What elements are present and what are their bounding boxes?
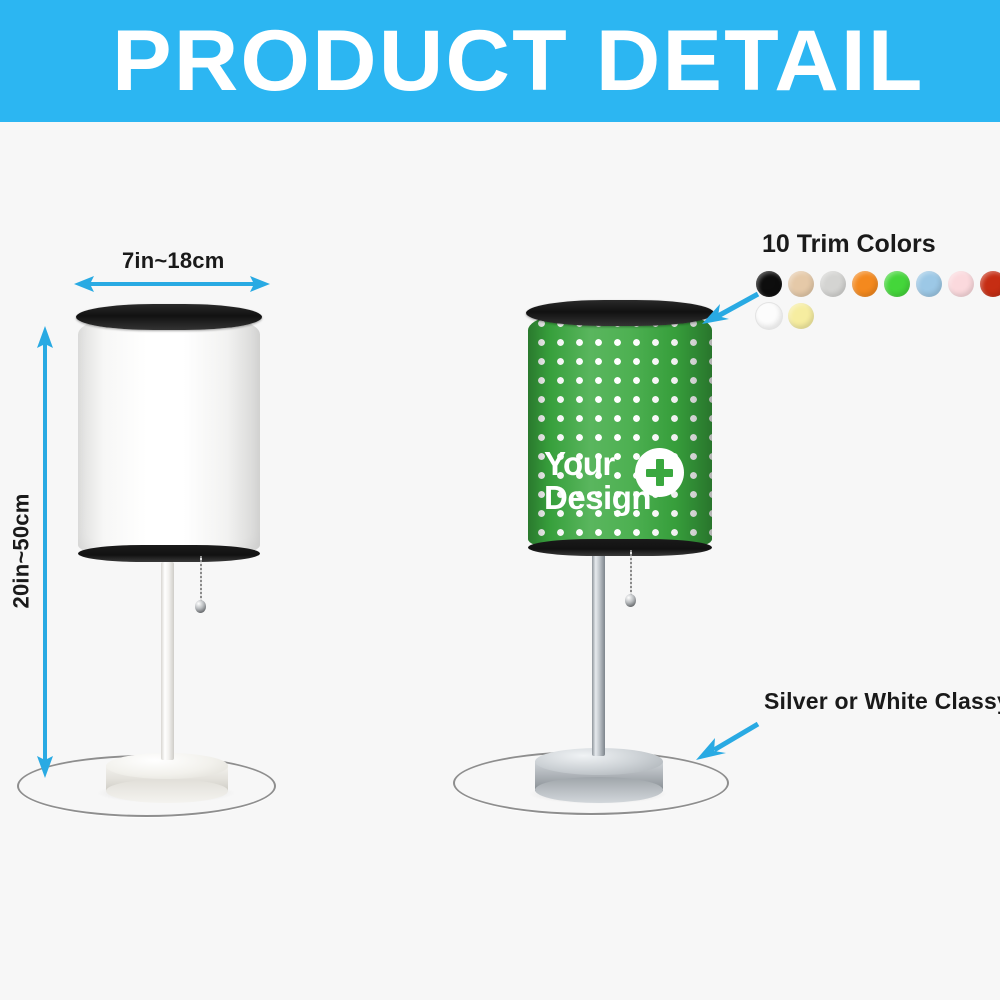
pull-chain-bead-silver[interactable] xyxy=(625,594,636,607)
trim-colors-title: 10 Trim Colors xyxy=(762,230,936,259)
pull-chain-bead-white[interactable] xyxy=(195,600,206,613)
shade-trim-top-white xyxy=(76,304,262,330)
shade-trim-bottom-white xyxy=(78,545,260,562)
trim-swatch-pink[interactable] xyxy=(948,271,974,297)
trim-swatch-white[interactable] xyxy=(756,303,782,329)
lamp-stem-white xyxy=(161,562,174,760)
shade-trim-top-green xyxy=(526,300,714,326)
shade-surface-green: Your Design xyxy=(528,308,712,554)
base-finish-arrow xyxy=(696,718,764,762)
trim-swatch-pale-yellow[interactable] xyxy=(788,303,814,329)
base-finish-label: Silver or White Classy xyxy=(764,688,1000,715)
width-dimension-label: 7in~18cm xyxy=(122,248,225,274)
width-dimension-arrow xyxy=(74,272,270,296)
trim-colors-arrow xyxy=(702,288,764,326)
design-line-2: Design xyxy=(544,482,712,514)
white-lamp: 7in~18cm 20in~50cm xyxy=(0,0,340,1000)
design-line-1: Your xyxy=(544,445,615,482)
height-dimension-label: 20in~50cm xyxy=(8,494,34,609)
trim-swatch-dark-red[interactable] xyxy=(980,271,1000,297)
lamp-base-bottom-silver xyxy=(535,777,663,803)
trim-swatch-tan[interactable] xyxy=(788,271,814,297)
lamp-stem-silver xyxy=(592,552,605,756)
lamp-shade-green: Your Design xyxy=(528,308,712,554)
trim-swatch-black[interactable] xyxy=(756,271,782,297)
shade-design-text: Your Design xyxy=(544,448,712,515)
lamp-base-bottom-white xyxy=(106,779,228,803)
trim-swatch-light-blue[interactable] xyxy=(916,271,942,297)
lamp-shade-white xyxy=(78,312,260,560)
shade-trim-bottom-green xyxy=(528,539,712,556)
trim-swatch-green[interactable] xyxy=(884,271,910,297)
pull-chain-white[interactable] xyxy=(200,556,202,604)
product-detail-page: PRODUCT DETAIL 7in~18cm xyxy=(0,0,1000,1000)
trim-swatch-light-gray[interactable] xyxy=(820,271,846,297)
add-design-plus-icon[interactable] xyxy=(635,448,684,497)
trim-color-swatch-list xyxy=(756,271,1000,329)
height-dimension-arrow xyxy=(33,326,57,778)
trim-swatch-orange[interactable] xyxy=(852,271,878,297)
pull-chain-silver[interactable] xyxy=(630,550,632,598)
plus-bar-vertical xyxy=(656,459,664,486)
green-custom-lamp: Your Design xyxy=(430,0,780,1000)
shade-cylinder-shading xyxy=(528,308,712,554)
shade-surface-white xyxy=(78,312,260,560)
